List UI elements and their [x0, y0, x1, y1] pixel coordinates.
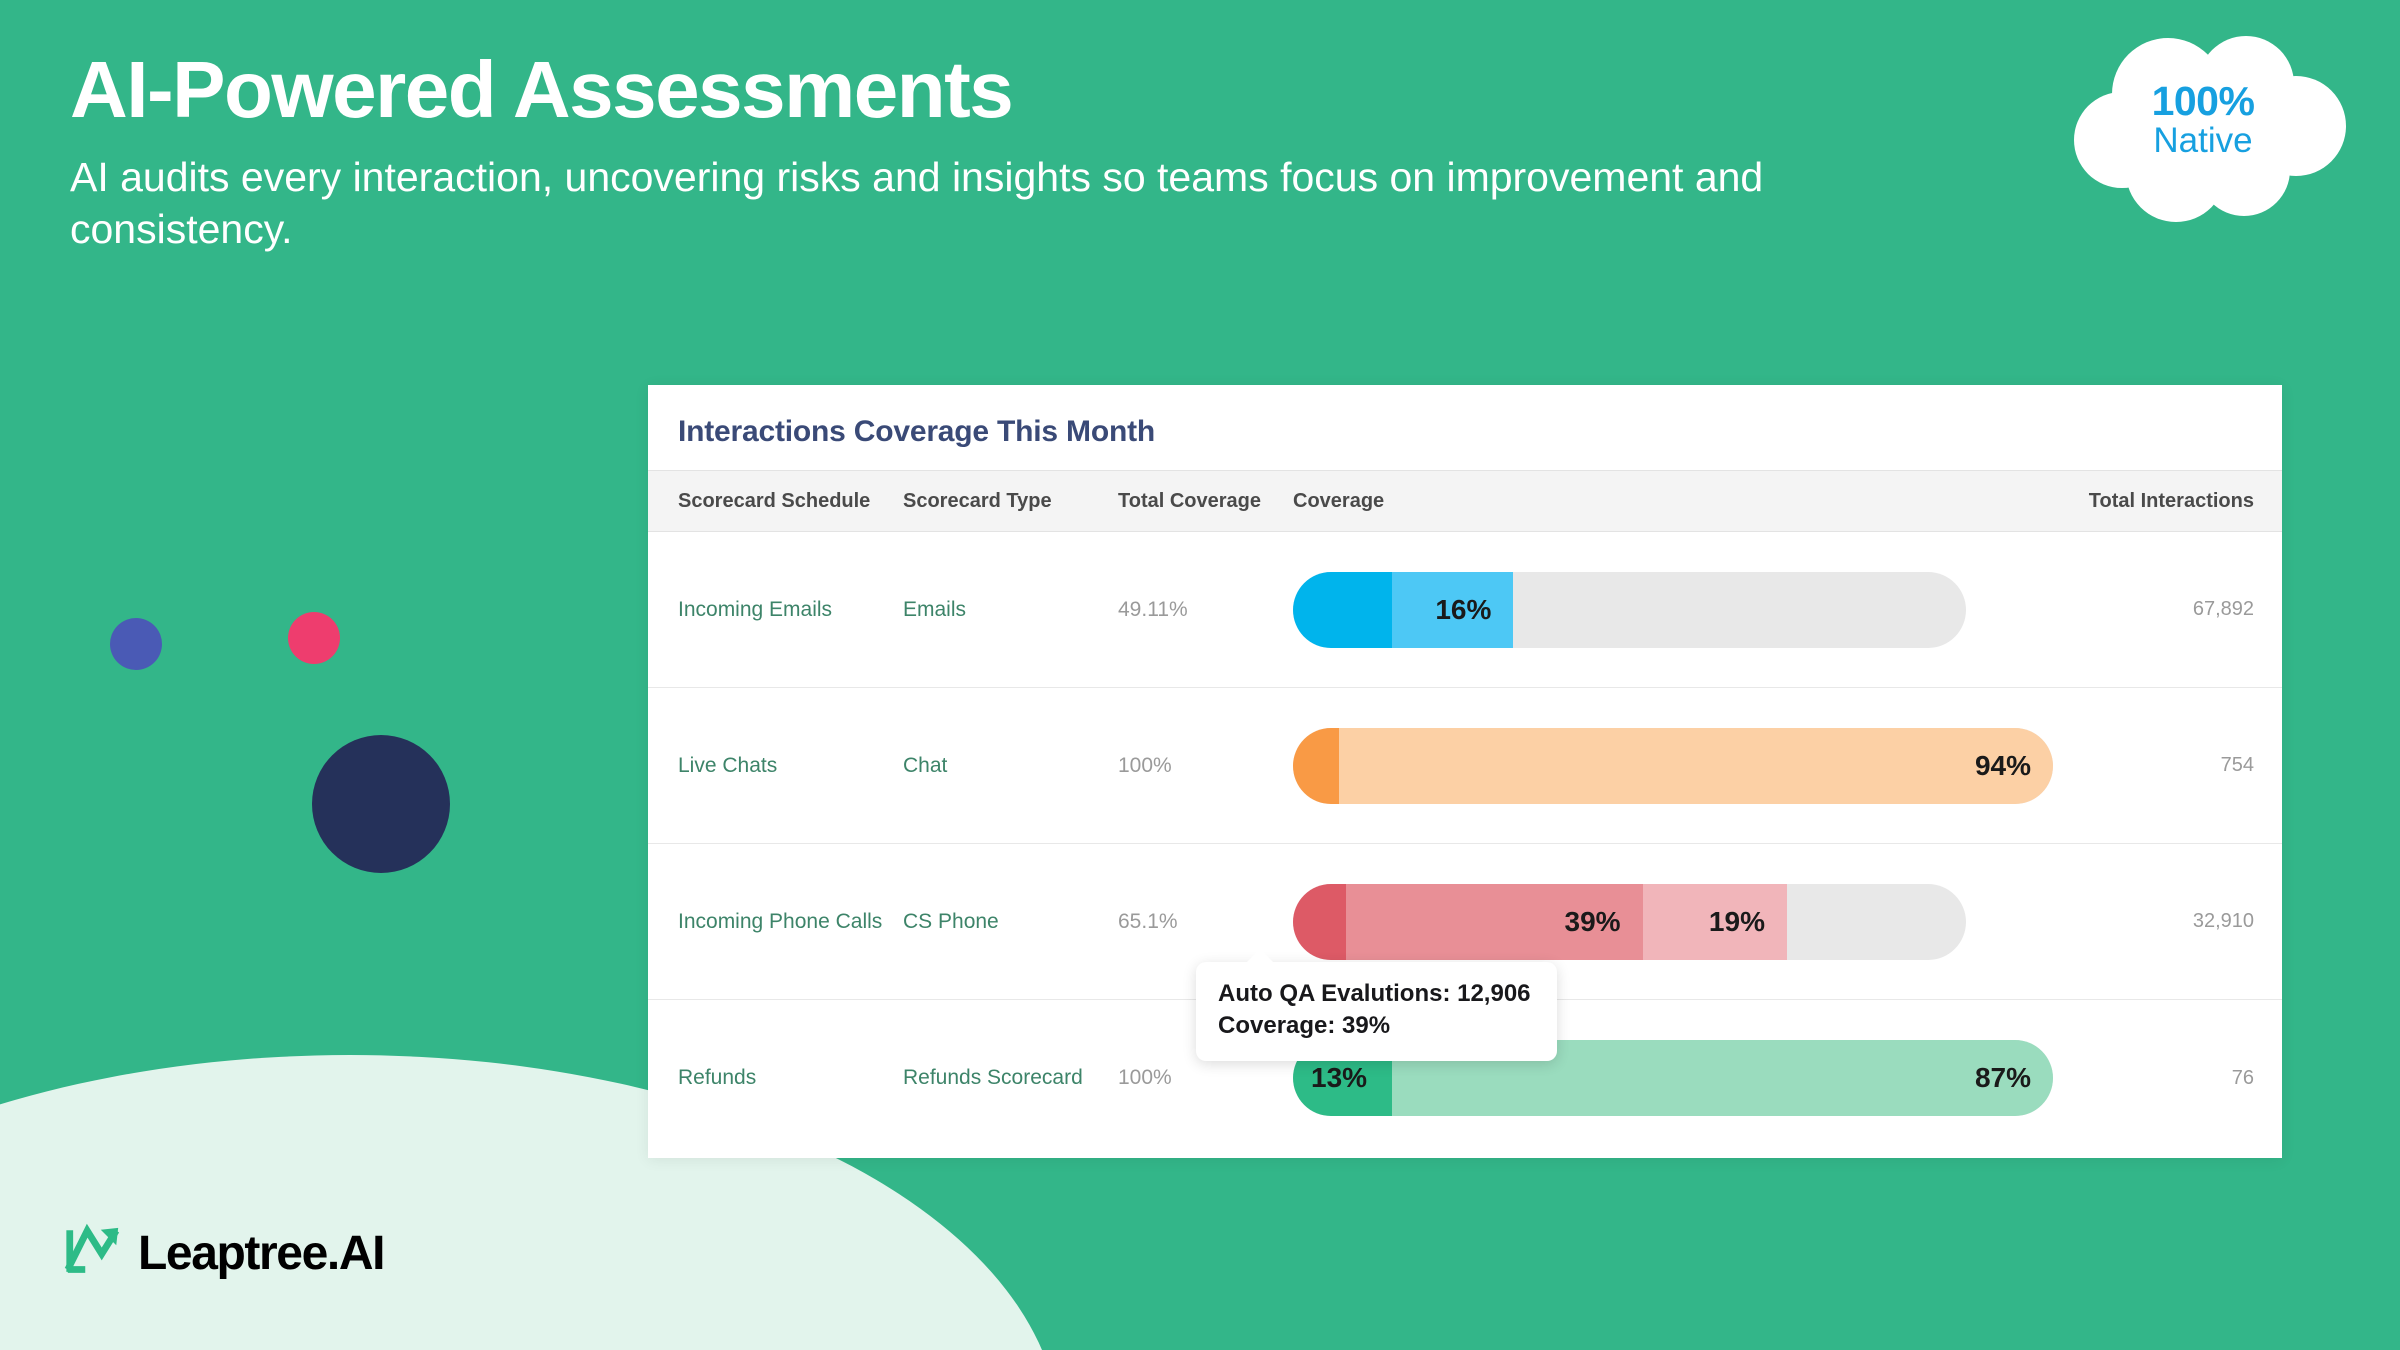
decorative-dot-purple — [110, 618, 162, 670]
cell-total-coverage: 49.11% — [1118, 598, 1293, 622]
column-header-type: Scorecard Type — [903, 490, 1118, 513]
bar-segment[interactable]: 94% — [1339, 728, 2053, 804]
bar-segment[interactable] — [1293, 884, 1346, 960]
cell-schedule: Refunds — [648, 1066, 903, 1090]
bar-segment-label: 19% — [1709, 906, 1765, 938]
table-row[interactable]: Live Chats Chat 100% 94% 754 — [648, 688, 2282, 844]
cell-total-coverage: 100% — [1118, 754, 1293, 778]
column-header-total-interactions: Total Interactions — [2047, 490, 2282, 513]
decorative-dot-pink — [288, 612, 340, 664]
native-cloud-badge: 100% Native — [2058, 22, 2348, 222]
tooltip-line-coverage: Coverage: 39% — [1218, 1010, 1531, 1042]
bar-segment-label: 39% — [1565, 906, 1621, 938]
cell-schedule: Live Chats — [648, 754, 903, 778]
logo-text: Leaptree.AI — [138, 1226, 384, 1281]
coverage-tooltip: Auto QA Evalutions: 12,906 Coverage: 39% — [1196, 962, 1557, 1061]
cell-schedule: Incoming Phone Calls — [648, 910, 903, 934]
decorative-dot-navy — [312, 735, 450, 873]
cell-type: CS Phone — [903, 910, 1118, 934]
cell-coverage-bar: 16% — [1293, 572, 2047, 648]
column-header-coverage: Coverage — [1293, 490, 2047, 513]
column-header-schedule: Scorecard Schedule — [648, 490, 903, 513]
cell-coverage-bar: 39%19% — [1293, 884, 2047, 960]
bar-segment-label: 16% — [1435, 594, 1491, 626]
cell-coverage-bar: 94% — [1293, 728, 2047, 804]
cell-schedule: Incoming Emails — [648, 598, 903, 622]
table-body: Incoming Emails Emails 49.11% 16% 67,892… — [648, 532, 2282, 1156]
page-subtitle: AI audits every interaction, uncovering … — [70, 151, 1860, 256]
leaptree-arrow-icon — [62, 1222, 124, 1284]
table-row[interactable]: Incoming Emails Emails 49.11% 16% 67,892 — [648, 532, 2282, 688]
bar-segment-label: 87% — [1975, 1062, 2031, 1094]
coverage-card: Interactions Coverage This Month Scoreca… — [648, 385, 2282, 1158]
coverage-bar[interactable]: 16% — [1293, 572, 2047, 648]
page-title: AI-Powered Assessments — [70, 48, 1970, 133]
bar-track[interactable]: 94% — [1293, 728, 2053, 804]
tooltip-line-evaluations: Auto QA Evalutions: 12,906 — [1218, 978, 1531, 1010]
column-header-total-coverage: Total Coverage — [1118, 490, 1293, 513]
coverage-bar[interactable]: 94% — [1293, 728, 2047, 804]
cell-type: Refunds Scorecard — [903, 1066, 1118, 1090]
bar-segment[interactable]: 16% — [1392, 572, 1514, 648]
cell-type: Chat — [903, 754, 1118, 778]
bar-track[interactable]: 16% — [1293, 572, 1966, 648]
cell-total-interactions: 76 — [2047, 1067, 2282, 1090]
cell-total-coverage: 65.1% — [1118, 910, 1293, 934]
cell-total-interactions: 67,892 — [2047, 598, 2282, 621]
table-header-row: Scorecard Schedule Scorecard Type Total … — [648, 470, 2282, 532]
bar-segment[interactable]: 19% — [1643, 884, 1787, 960]
bar-segment-label: 13% — [1311, 1062, 1367, 1094]
card-title: Interactions Coverage This Month — [648, 385, 2282, 470]
bar-segment[interactable] — [1293, 572, 1392, 648]
cell-total-interactions: 32,910 — [2047, 910, 2282, 933]
bar-segment-label: 94% — [1975, 750, 2031, 782]
cell-total-interactions: 754 — [2047, 754, 2282, 777]
hero-header: AI-Powered Assessments AI audits every i… — [70, 48, 1970, 256]
badge-label: Native — [2153, 123, 2252, 160]
bar-segment[interactable]: 39% — [1346, 884, 1642, 960]
bar-segment[interactable] — [1293, 728, 1339, 804]
table-row[interactable]: Incoming Phone Calls CS Phone 65.1% 39%1… — [648, 844, 2282, 1000]
cell-type: Emails — [903, 598, 1118, 622]
brand-logo: Leaptree.AI — [62, 1222, 384, 1284]
cell-total-coverage: 100% — [1118, 1066, 1293, 1090]
coverage-bar[interactable]: 39%19% — [1293, 884, 2047, 960]
badge-percent: 100% — [2152, 81, 2255, 123]
bar-track[interactable]: 39%19% — [1293, 884, 1966, 960]
